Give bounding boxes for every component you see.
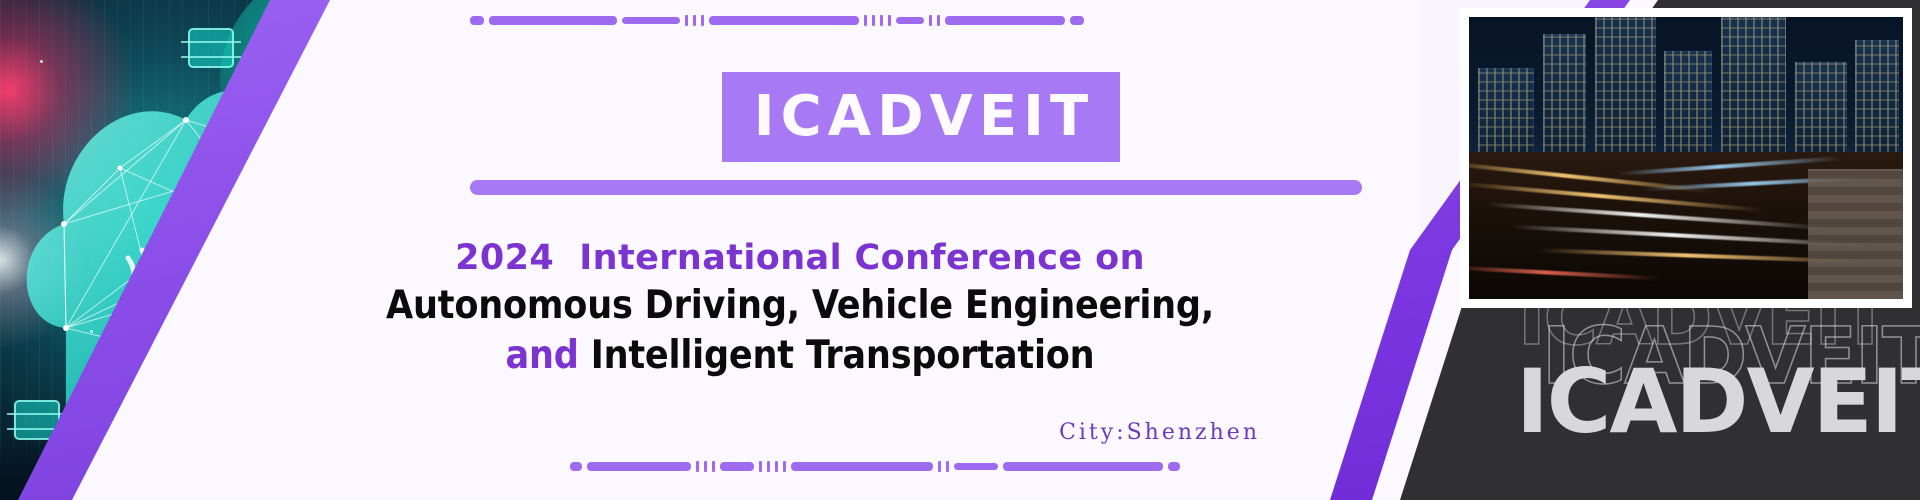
conference-line-1: 2024 International Conference on xyxy=(300,236,1300,281)
acronym-title-box: ICADVEIT xyxy=(722,72,1120,162)
underpass-wall xyxy=(1808,169,1903,299)
city-night-traffic-photo xyxy=(1469,17,1903,299)
conference-title-block: 2024 International Conference on Autonom… xyxy=(300,236,1300,382)
decorative-rule-bottom xyxy=(570,462,1180,471)
conference-line-3-highlight: and xyxy=(506,333,579,378)
building xyxy=(1664,51,1712,164)
building xyxy=(1795,62,1847,164)
building xyxy=(1478,68,1534,164)
building xyxy=(1595,17,1656,164)
watermark-acronym-outline-2: ICADVEIT xyxy=(1542,318,1920,396)
building xyxy=(1721,17,1786,164)
conference-line-3: and Intelligent Transportation xyxy=(300,331,1300,382)
city-photo-frame xyxy=(1460,8,1912,308)
conference-acronym: ICADVEIT xyxy=(748,89,1094,145)
building xyxy=(1543,34,1586,164)
watermark-acronym-solid: ICADVEIT xyxy=(1516,358,1920,446)
right-graphic-panel: ICADVEIT ICADVEIT ICADVEIT xyxy=(1160,0,1920,500)
conference-line-3-rest: Intelligent Transportation xyxy=(579,333,1095,378)
building xyxy=(1855,40,1898,164)
decorative-rule-top xyxy=(470,16,1084,25)
conference-line-2: Autonomous Driving, Vehicle Engineering, xyxy=(300,281,1300,332)
conference-banner: ICADVEIT 2024 International Conference o… xyxy=(0,0,1920,500)
